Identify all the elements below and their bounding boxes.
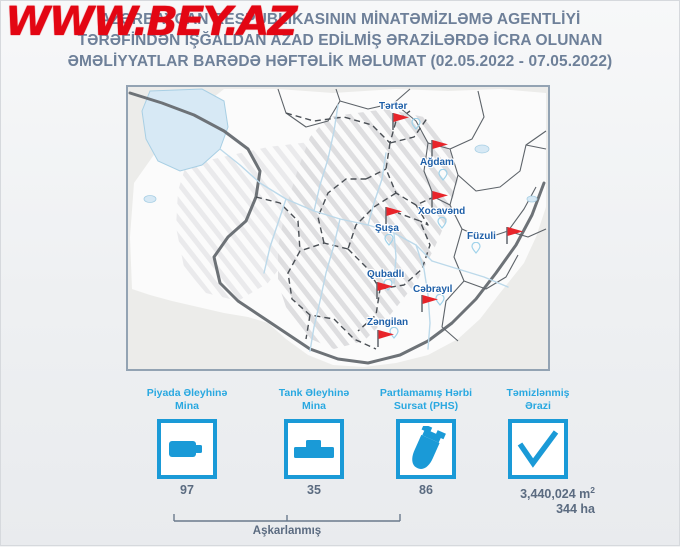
anti-tank-mine-icon xyxy=(293,436,335,462)
legend-label-anti-tank-mine-l2: Mina xyxy=(249,400,379,413)
legend-value-cleared-area: 3,440,024 m2 344 ha xyxy=(473,483,603,517)
flag-marker-zengilan[interactable] xyxy=(375,328,397,348)
legend-label-cleared-area-l1: Təmizlənmiş xyxy=(473,387,603,400)
city-dot-tartar xyxy=(411,118,421,130)
legend-item-anti-personnel-mine: Piyada Əleyhinə Mina 97 xyxy=(122,387,252,497)
legend-label-anti-personnel-mine-l1: Piyada Əleyhinə xyxy=(122,387,252,400)
flag-marker-cebrayil[interactable] xyxy=(419,293,441,313)
legend-item-cleared-area: Təmizlənmiş Ərazi 3,440,024 m2 344 ha xyxy=(473,387,603,517)
city-label-zengilan: Zəngilan xyxy=(367,317,408,328)
page-title-line-3: ƏMƏLİYYATLAR BARƏDƏ HƏFTƏLİK MƏLUMAT (02… xyxy=(1,51,679,72)
city-label-agdam: Ağdam xyxy=(420,157,454,168)
legend-label-unexploded-ordnance-l2: Sursat (PHS) xyxy=(361,400,491,413)
city-label-qubadli: Qubadlı xyxy=(367,269,404,280)
legend-label-cleared-area-l2: Ərazi xyxy=(473,400,603,413)
legend-value-anti-tank-mine: 35 xyxy=(249,483,379,497)
city-label-susa: Şuşa xyxy=(375,223,399,234)
anti-personnel-mine-icon xyxy=(167,436,207,462)
map-canvas xyxy=(128,87,548,369)
legend-iconbox-anti-personnel-mine xyxy=(157,419,217,479)
city-label-xocavand: Xocavənd xyxy=(418,206,465,217)
legend-value-unexploded-ordnance: 86 xyxy=(361,483,491,497)
infographic-page: WWW.BEY.AZ AZƏRBAYCAN RESPUBLİKASININ Mİ… xyxy=(0,0,680,546)
legend-label-unexploded-ordnance-l1: Partlamamış Hərbi xyxy=(361,387,491,400)
map-vector xyxy=(128,87,548,369)
flag-marker-qubadli[interactable] xyxy=(374,280,396,300)
page-title-line-2: TƏRƏFİNDƏN İŞĞALDAN AZAD EDİLMİŞ ƏRAZİLƏ… xyxy=(1,30,679,51)
city-dot-fuzuli xyxy=(471,242,481,254)
legend-value-anti-personnel-mine: 97 xyxy=(122,483,252,497)
city-dot-xocavand xyxy=(437,217,447,229)
page-title-line-1: AZƏRBAYCAN RESPUBLİKASININ MİNATƏMİZLƏMƏ… xyxy=(1,9,679,30)
unexploded-ordnance-icon xyxy=(406,426,446,472)
city-dot-agdam xyxy=(438,169,448,181)
checkmark-icon xyxy=(517,430,559,468)
legend-bracket xyxy=(173,513,401,523)
legend-item-anti-tank-mine: Tank Əleyhinə Mina 35 xyxy=(249,387,379,497)
page-title: AZƏRBAYCAN RESPUBLİKASININ MİNATƏMİZLƏMƏ… xyxy=(1,9,679,72)
legend: Piyada Əleyhinə Mina 97 Tank Əleyhinə Mi… xyxy=(1,387,679,547)
legend-label-anti-personnel-mine-l2: Mina xyxy=(122,400,252,413)
city-dot-susa xyxy=(384,234,394,246)
city-label-tartar: Tərtər xyxy=(379,101,407,112)
city-label-fuzuli: Füzuli xyxy=(467,231,496,242)
city-label-cebrayil: Cəbrayıl xyxy=(413,284,452,295)
legend-bracket-label: Aşkarlanmış xyxy=(173,525,401,537)
legend-iconbox-anti-tank-mine xyxy=(284,419,344,479)
map-frame xyxy=(126,85,550,371)
legend-iconbox-cleared-area xyxy=(508,419,568,479)
flag-marker-susa[interactable] xyxy=(383,205,405,225)
legend-value-cleared-area-sup: 2 xyxy=(590,485,595,495)
flag-marker-agdam[interactable] xyxy=(429,138,451,158)
legend-value-cleared-area-ha: 344 ha xyxy=(556,502,595,516)
legend-iconbox-unexploded-ordnance xyxy=(396,419,456,479)
legend-value-cleared-area-m2: 3,440,024 m xyxy=(520,487,590,501)
flag-marker-tartar[interactable] xyxy=(390,111,412,131)
flag-marker-fuzuli[interactable] xyxy=(504,225,526,245)
legend-item-unexploded-ordnance: Partlamamış Hərbi Sursat (PHS) 86 xyxy=(361,387,491,497)
legend-label-anti-tank-mine-l1: Tank Əleyhinə xyxy=(249,387,379,400)
